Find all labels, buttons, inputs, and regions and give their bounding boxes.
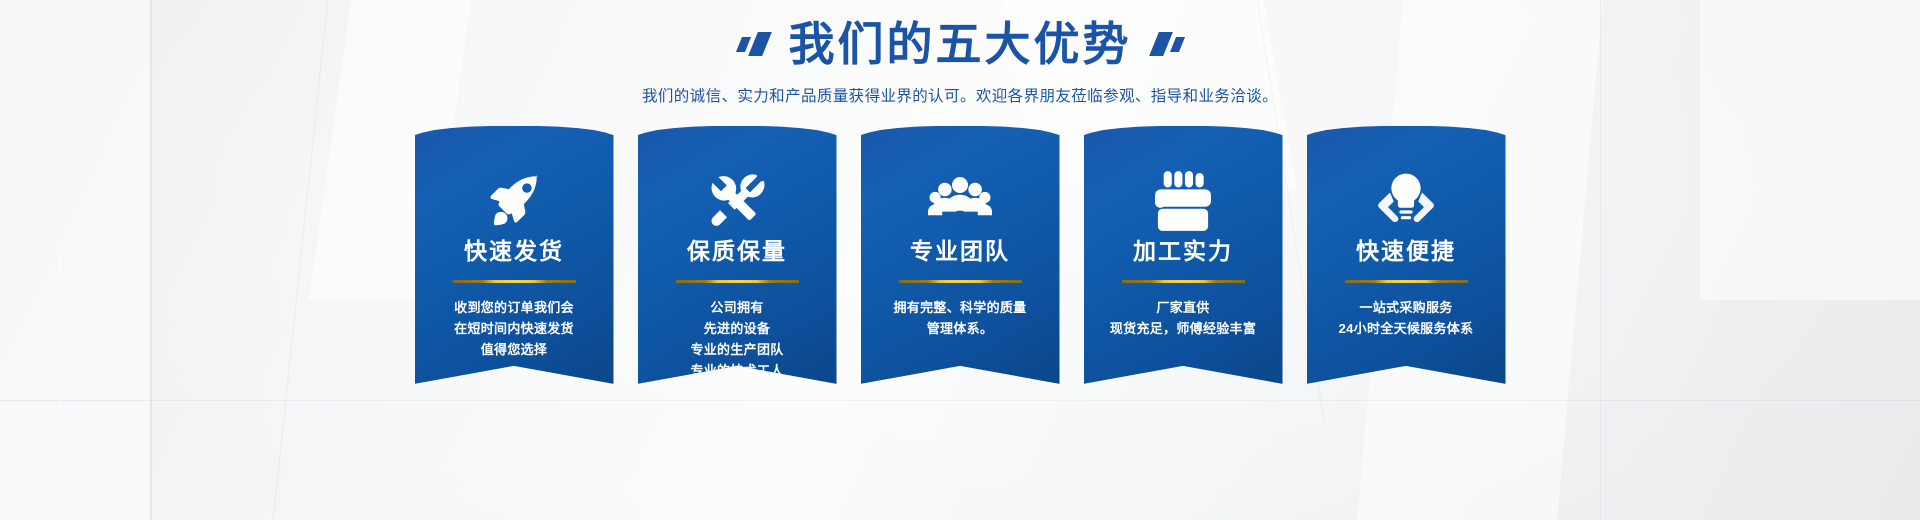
card-description-line: 管理体系。 [861, 318, 1060, 339]
card-description-line: 厂家直供 [1084, 297, 1283, 318]
fist-hand-icon [1084, 170, 1283, 232]
advantage-card[interactable]: 加工实力 厂家直供 现货充足，师傅经验丰富 [1084, 126, 1283, 384]
card-description: 一站式采购服务 24小时全天候服务体系 [1307, 297, 1506, 339]
card-title: 加工实力 [1084, 238, 1283, 266]
page-title: 我们的五大优势 [789, 18, 1132, 71]
card-title: 快速发货 [415, 238, 614, 266]
card-title: 专业团队 [861, 238, 1060, 266]
wrench-screwdriver-icon [638, 170, 837, 232]
card-description: 公司拥有 先进的设备 专业的生产团队 专业的技术工人 [638, 297, 837, 381]
card-description-line: 专业的生产团队 [638, 339, 837, 360]
page-subtitle: 我们的诚信、实力和产品质量获得业界的认可。欢迎各界朋友莅临参观、指导和业务洽谈。 [0, 84, 1920, 106]
lightbulb-in-hands-icon [1307, 170, 1506, 232]
advantage-card[interactable]: 专业团队 拥有完整、科学的质量 管理体系。 [861, 126, 1060, 384]
card-description-line: 公司拥有 [638, 297, 837, 318]
card-description: 收到您的订单我们会 在短时间内快速发货 值得您选择 [415, 297, 614, 360]
card-description: 厂家直供 现货充足，师傅经验丰富 [1084, 297, 1283, 339]
card-title: 快速便捷 [1307, 238, 1506, 266]
card-description-line: 一站式采购服务 [1307, 297, 1506, 318]
advantage-card[interactable]: 快速发货 收到您的订单我们会 在短时间内快速发货 值得您选择 [415, 126, 614, 384]
card-title: 保质保量 [638, 238, 837, 266]
card-description-line: 拥有完整、科学的质量 [861, 297, 1060, 318]
title-row: 我们的五大优势 [0, 18, 1920, 71]
card-description: 拥有完整、科学的质量 管理体系。 [861, 297, 1060, 339]
advantage-card[interactable]: 保质保量 公司拥有 先进的设备 专业的生产团队 专业的技术工人 [638, 126, 837, 384]
card-description-line: 先进的设备 [638, 318, 837, 339]
section-header: 我们的五大优势 我们的诚信、实力和产品质量获得业界的认可。欢迎各界朋友莅临参观、… [0, 0, 1920, 106]
card-description-line: 现货充足，师傅经验丰富 [1084, 318, 1283, 339]
card-description-line: 收到您的订单我们会 [415, 297, 614, 318]
advantage-card-list: 快速发货 收到您的订单我们会 在短时间内快速发货 值得您选择 保质保量 公司拥有… [0, 126, 1920, 384]
team-group-icon [861, 170, 1060, 232]
parallelogram-decoration-right-icon [1154, 32, 1182, 56]
card-description-line: 值得您选择 [415, 339, 614, 360]
card-description-line: 专业的技术工人 [638, 360, 837, 381]
parallelogram-decoration-left-icon [739, 32, 767, 56]
advantage-card[interactable]: 快速便捷 一站式采购服务 24小时全天候服务体系 [1307, 126, 1506, 384]
card-divider [676, 280, 799, 283]
rocket-icon [415, 170, 614, 232]
card-divider [453, 280, 576, 283]
card-divider [1345, 280, 1468, 283]
card-divider [899, 280, 1022, 283]
card-divider [1122, 280, 1245, 283]
card-description-line: 24小时全天候服务体系 [1307, 318, 1506, 339]
card-description-line: 在短时间内快速发货 [415, 318, 614, 339]
